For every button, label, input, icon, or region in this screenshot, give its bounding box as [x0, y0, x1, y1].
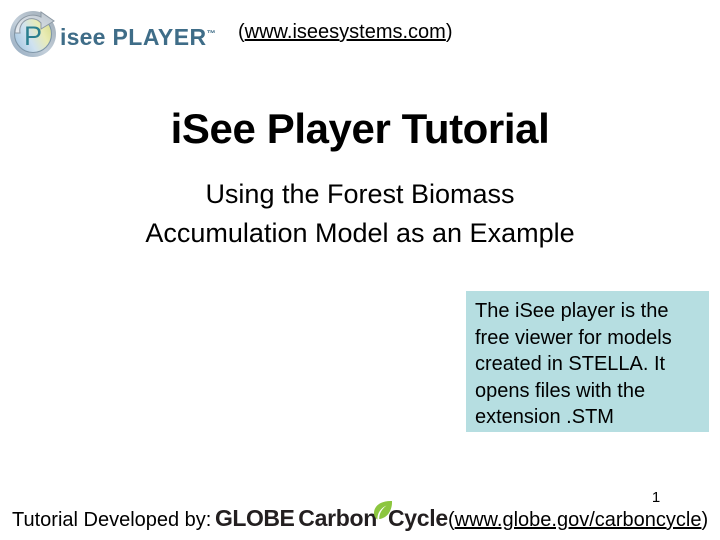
header-brand-row: P isee PLAYER™ (www.iseesystems.com) — [0, 0, 720, 70]
isee-player-circular-p-icon: P — [7, 7, 59, 59]
url-text[interactable]: www.iseesystems.com — [245, 21, 446, 43]
footer-url-close-paren: ) — [701, 509, 708, 531]
page-subtitle: Using the Forest Biomass Accumulation Mo… — [60, 175, 660, 253]
footer-url-text[interactable]: www.globe.gov/carboncycle — [455, 509, 702, 531]
footer-url-open-paren: ( — [448, 509, 455, 531]
subtitle-line-1: Using the Forest Biomass — [60, 175, 660, 214]
isee-player-wordmark: isee PLAYER™ — [60, 24, 216, 51]
slide-number: 1 — [646, 489, 666, 506]
page-title: iSee Player Tutorial — [0, 105, 720, 153]
globe-logo-word-globe: GLOBE — [215, 505, 294, 531]
info-callout-box: The iSee player is the free viewer for m… — [466, 291, 709, 432]
url-close-paren: ) — [446, 21, 453, 43]
green-leaf-icon — [372, 500, 394, 520]
info-callout-text: The iSee player is the free viewer for m… — [475, 298, 701, 431]
footer-credit-label: Tutorial Developed by: — [12, 509, 211, 532]
globe-logo-word-cycle: Cycle — [388, 505, 448, 531]
globe-carboncycle-url[interactable]: (www.globe.gov/carboncycle) — [448, 509, 708, 532]
trademark-symbol: ™ — [207, 28, 216, 38]
globe-logo-word-carbon: Carbon — [298, 505, 377, 531]
isee-systems-url[interactable]: (www.iseesystems.com) — [238, 21, 453, 44]
subtitle-line-2: Accumulation Model as an Example — [60, 214, 660, 253]
wordmark-player-text: PLAYER — [112, 24, 206, 50]
svg-text:P: P — [24, 21, 42, 51]
wordmark-isee: isee — [60, 24, 106, 50]
url-open-paren: ( — [238, 21, 245, 43]
globe-carbon-cycle-logo: GLOBECarbonCycle — [215, 505, 448, 533]
